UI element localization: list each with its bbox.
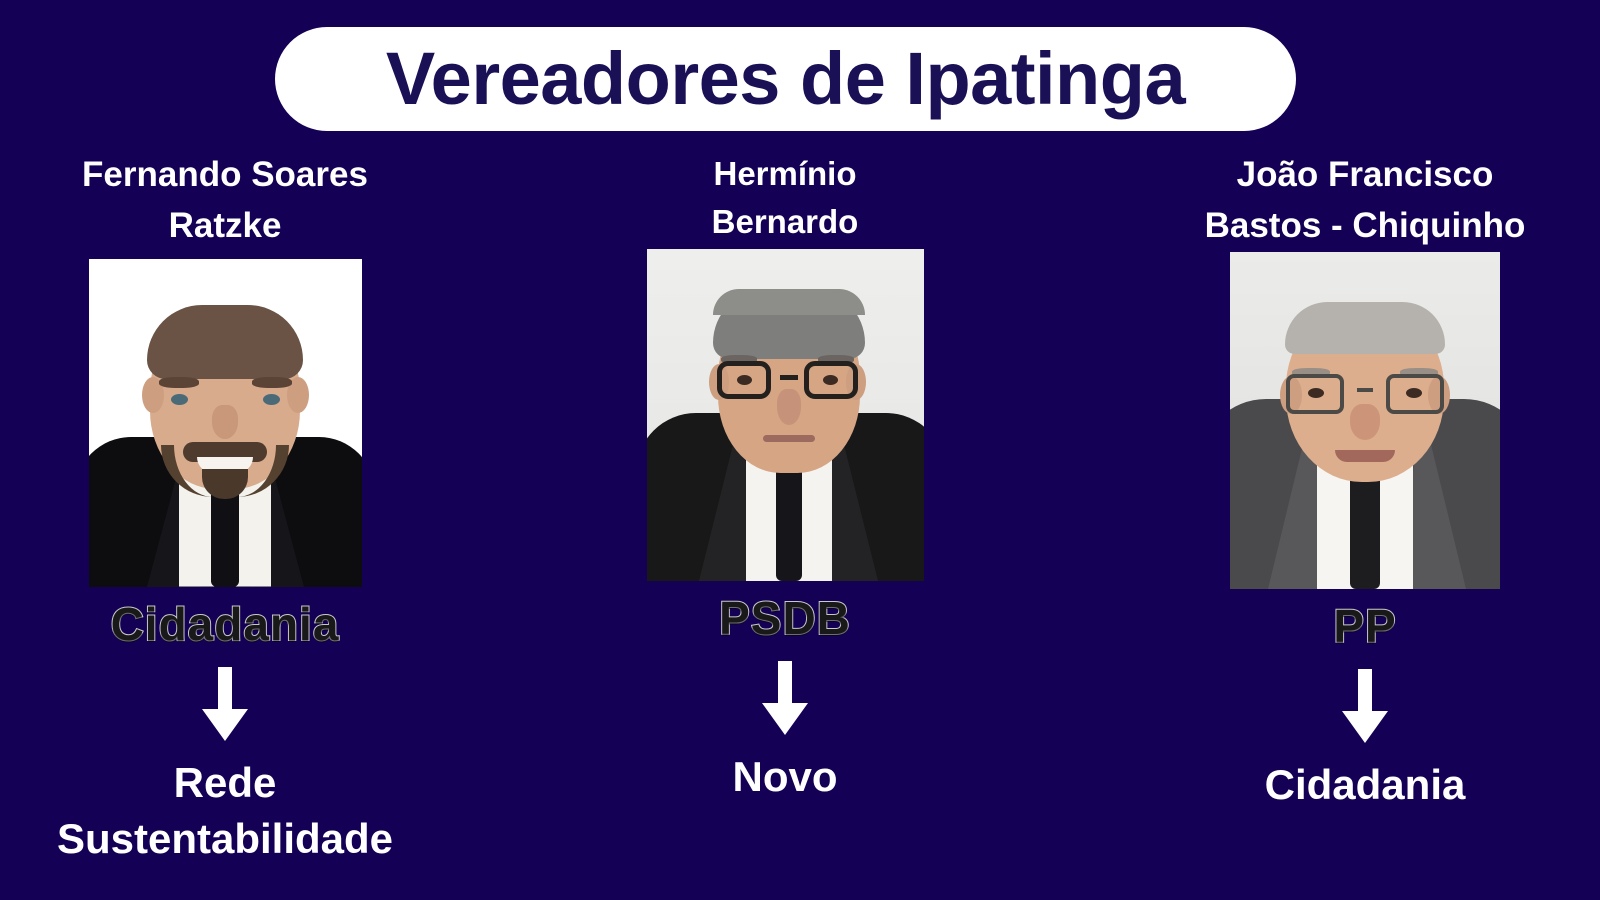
- councillor-photo: [89, 259, 362, 587]
- councillor-name: Hermínio Bernardo: [565, 150, 1005, 246]
- new-party-label: Rede Sustentabilidade: [0, 755, 450, 868]
- new-party-label: Novo: [560, 749, 1010, 806]
- councillor-card-2: João Francisco Bastos - Chiquinho: [1135, 150, 1595, 813]
- current-party-label: Cidadania: [111, 601, 340, 647]
- down-arrow-icon: [1338, 669, 1392, 745]
- councillor-card-0: Fernando Soares Ratzke: [0, 150, 455, 868]
- down-arrow-icon: [198, 667, 252, 743]
- councillor-name: Fernando Soares Ratzke: [5, 150, 445, 252]
- down-arrow-icon: [758, 661, 812, 737]
- title-banner: Vereadores de Ipatinga: [275, 27, 1296, 131]
- current-party-label: PP: [1333, 603, 1396, 649]
- councillor-card-1: Hermínio Bernardo: [555, 150, 1015, 805]
- councillor-name: João Francisco Bastos - Chiquinho: [1145, 150, 1585, 252]
- new-party-label: Cidadania: [1140, 757, 1590, 814]
- current-party-label: PSDB: [719, 595, 851, 641]
- councillor-photo: [1230, 252, 1500, 589]
- page-title: Vereadores de Ipatinga: [386, 42, 1185, 116]
- slide-canvas: Vereadores de Ipatinga Fernando Soares R…: [0, 0, 1600, 900]
- councillor-photo: [647, 249, 924, 581]
